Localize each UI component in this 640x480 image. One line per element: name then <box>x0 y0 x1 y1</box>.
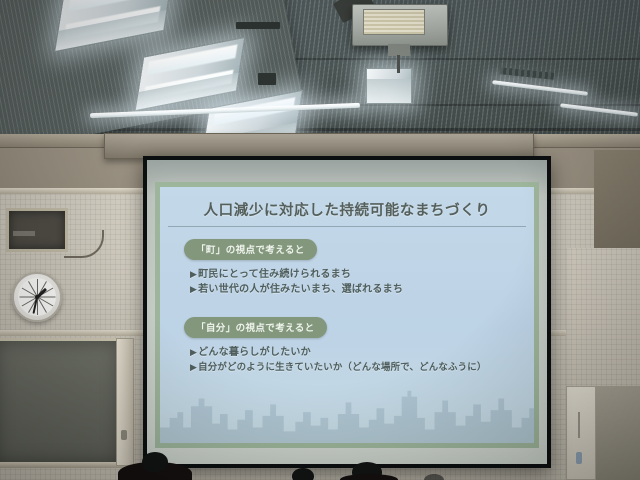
clock-face <box>18 278 56 316</box>
slide-bullet-list-2: ▶どんな暮らしがしたいか ▶自分がどのように生きていたいか（どんな場所で、どんな… <box>190 345 522 376</box>
ceiling-light-fixture <box>366 68 412 104</box>
slide-content: 人口減少に対応した持続可能なまちづくり 「町」の視点で考えると ▶町民にとって住… <box>160 187 534 443</box>
audience-head <box>292 468 314 480</box>
projector <box>352 4 448 46</box>
triangle-bullet-icon: ▶ <box>190 285 197 295</box>
audience-head <box>142 452 168 472</box>
triangle-bullet-icon: ▶ <box>190 270 197 280</box>
wall-texture-right <box>566 248 640 390</box>
bullet-text: 若い世代の人が住みたいまち、選ばれるまち <box>198 284 403 295</box>
title-divider <box>168 226 526 227</box>
chalkboard <box>0 338 122 466</box>
sliding-board-edge <box>116 338 134 466</box>
slide-bullet-list-1: ▶町民にとって住み続けられるまち ▶若い世代の人が住みたいまち、選ばれるまち <box>190 267 522 299</box>
bullet-item: ▶自分がどのように生きていたいか（どんな場所で、どんなふうに） <box>190 361 522 376</box>
board-handle[interactable] <box>121 430 127 440</box>
projector-vent <box>363 9 425 35</box>
chalk-tray <box>0 462 126 468</box>
slide-section-header-2: 「自分」の視点で考えると <box>184 316 522 338</box>
presentation-slide: 人口減少に対応した持続可能なまちづくり 「町」の視点で考えると ▶町民にとって住… <box>155 182 539 448</box>
light-reflector <box>367 79 411 103</box>
room-scene: 人口減少に対応した持続可能なまちづくり 「町」の視点で考えると ▶町民にとって住… <box>0 0 640 480</box>
wall-lower-panel-right <box>596 386 640 480</box>
section-pill-label: 「自分」の視点で考えると <box>184 317 327 338</box>
wall-upper-panel-right <box>594 150 640 260</box>
bullet-text: 町民にとって住み続けられるまち <box>198 269 351 280</box>
board-slot <box>578 412 580 438</box>
bullet-text: 自分がどのように生きていたいか（どんな場所で、どんなふうに） <box>198 362 486 373</box>
projector-pole <box>397 55 400 73</box>
wall-board-right <box>566 386 596 480</box>
wall-texture <box>566 248 640 390</box>
section-pill-label: 「町」の視点で考えると <box>184 239 317 260</box>
bullet-item: ▶どんな暮らしがしたいか <box>190 345 522 361</box>
audience-head <box>424 474 444 480</box>
projection-screen-surface: 人口減少に対応した持続可能なまちづくり 「町」の視点で考えると ▶町民にとって住… <box>147 160 547 464</box>
audience-silhouette <box>340 474 398 480</box>
slide-title: 人口減少に対応した持続可能なまちづくり <box>172 195 522 226</box>
slide-section-header-1: 「町」の視点で考えると <box>184 238 522 260</box>
wall-panel-sticker <box>13 231 35 236</box>
clock-center-cap <box>35 295 39 299</box>
ceiling-bracket <box>258 73 276 85</box>
wall-service-panel <box>6 208 68 252</box>
triangle-bullet-icon: ▶ <box>190 363 197 373</box>
triangle-bullet-icon: ▶ <box>190 348 197 358</box>
projection-screen-frame: 人口減少に対応した持続可能なまちづくり 「町」の視点で考えると ▶町民にとって住… <box>143 156 551 468</box>
wall-clock <box>12 272 62 322</box>
bullet-item: ▶町民にとって住み続けられるまち <box>190 267 522 283</box>
ceiling-bracket <box>236 22 280 29</box>
bullet-item: ▶若い世代の人が住みたいまち、選ばれるまち <box>190 282 522 298</box>
door-handle[interactable] <box>576 452 582 464</box>
bullet-text: どんな暮らしがしたいか <box>198 347 311 358</box>
slide-canvas: 人口減少に対応した持続可能なまちづくり 「町」の視点で考えると ▶町民にとって住… <box>160 187 534 443</box>
ceiling <box>0 0 640 150</box>
